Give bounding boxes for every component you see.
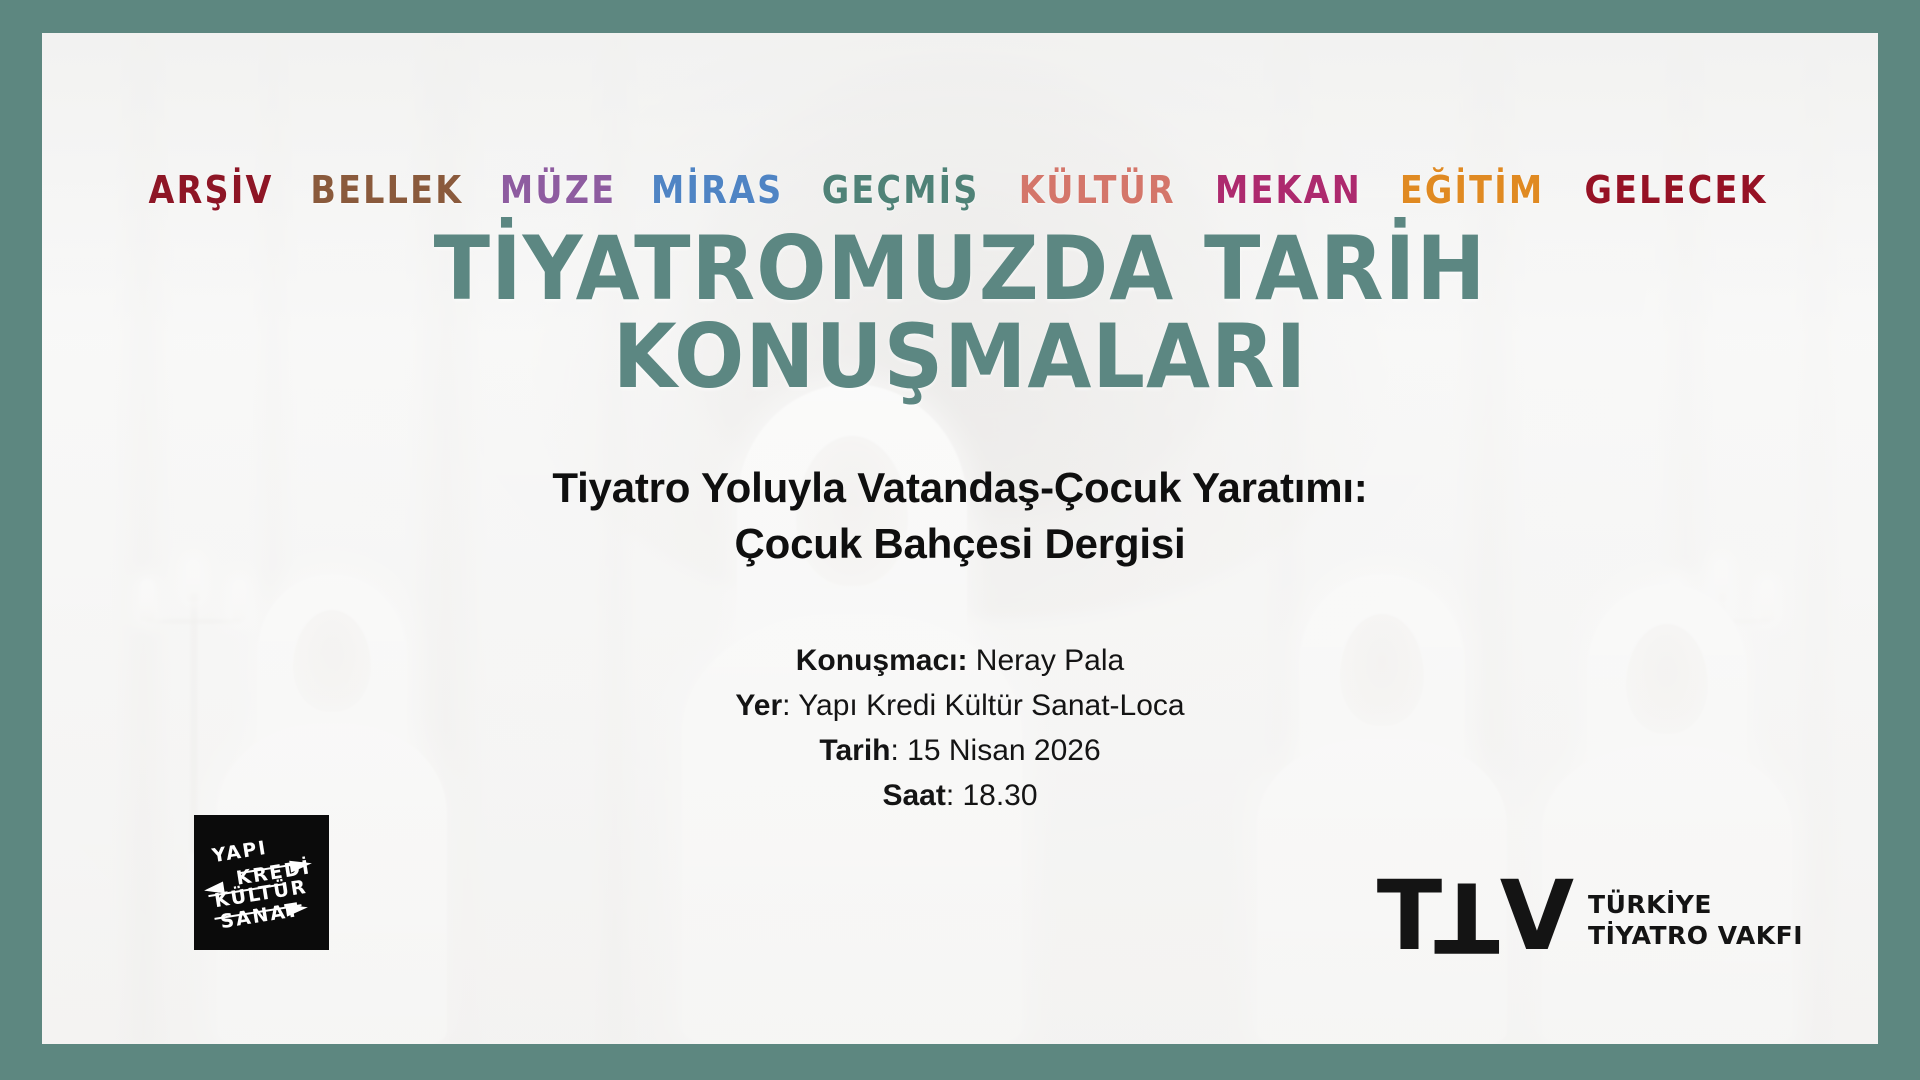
detail-value-3: : 18.30: [946, 779, 1038, 812]
ttv-letter-v: V: [1500, 877, 1570, 956]
keyword-2: MÜZE: [500, 171, 616, 209]
talk-subtitle-line2: Çocuk Bahçesi Dergisi: [42, 516, 1878, 572]
keyword-4: GEÇMİŞ: [821, 171, 979, 209]
detail-value-1: : Yapı Kredi Kültür Sanat-Loca: [782, 689, 1184, 722]
detail-label-3: Saat: [882, 779, 945, 812]
ttv-wordmark: TÜRKİYE TİYATRO VAKFI: [1588, 883, 1803, 951]
ttv-monogram: T T V: [1377, 877, 1570, 956]
detail-value-0: Neray Pala: [967, 644, 1124, 677]
keyword-7: EĞİTİM: [1399, 171, 1543, 209]
talk-subtitle-line1: Tiyatro Yoluyla Vatandaş-Çocuk Yaratımı:: [42, 460, 1878, 516]
detail-label-0: Konuşmacı:: [796, 644, 968, 677]
keyword-3: MİRAS: [651, 171, 783, 209]
detail-label-1: Yer: [735, 689, 782, 722]
ttv-wordmark-line2: TİYATRO VAKFI: [1588, 920, 1803, 951]
keyword-8: GELECEK: [1584, 171, 1767, 209]
event-poster: ARŞİVBELLEKMÜZEMİRASGEÇMİŞKÜLTÜRMEKANEĞİ…: [0, 0, 1920, 1080]
detail-row-2: Tarih: 15 Nisan 2026: [42, 728, 1878, 773]
ttv-wordmark-line1: TÜRKİYE: [1588, 889, 1803, 920]
turkiye-tiyatro-vakfi-logo: T T V TÜRKİYE TİYATRO VAKFI: [1377, 877, 1803, 956]
keyword-strip: ARŞİVBELLEKMÜZEMİRASGEÇMİŞKÜLTÜRMEKANEĞİ…: [42, 171, 1878, 209]
poster-content: ARŞİVBELLEKMÜZEMİRASGEÇMİŞKÜLTÜRMEKANEĞİ…: [42, 33, 1878, 1044]
detail-row-1: Yer: Yapı Kredi Kültür Sanat-Loca: [42, 683, 1878, 728]
talk-subtitle: Tiyatro Yoluyla Vatandaş-Çocuk Yaratımı:…: [42, 460, 1878, 572]
poster-stage: ARŞİVBELLEKMÜZEMİRASGEÇMİŞKÜLTÜRMEKANEĞİ…: [42, 33, 1878, 1044]
event-details: Konuşmacı: Neray PalaYer: Yapı Kredi Kül…: [42, 638, 1878, 818]
page-title: TİYATROMUZDA TARİH KONUŞMALARI: [97, 225, 1823, 401]
detail-value-2: : 15 Nisan 2026: [890, 734, 1100, 767]
keyword-1: BELLEK: [311, 171, 464, 209]
ttv-letter-t1: T: [1377, 877, 1438, 956]
yapi-kredi-kultur-sanat-logo: YAPI KREDİ KÜLTÜR SANAT: [194, 815, 329, 950]
logo-text-yapi: YAPI: [211, 837, 269, 867]
detail-row-0: Konuşmacı: Neray Pala: [42, 638, 1878, 683]
detail-row-3: Saat: 18.30: [42, 773, 1878, 818]
ttv-letter-t2-inverted: T: [1438, 877, 1499, 956]
keyword-5: KÜLTÜR: [1019, 171, 1176, 209]
keyword-0: ARŞİV: [149, 171, 274, 209]
detail-label-2: Tarih: [819, 734, 890, 767]
keyword-6: MEKAN: [1215, 171, 1362, 209]
